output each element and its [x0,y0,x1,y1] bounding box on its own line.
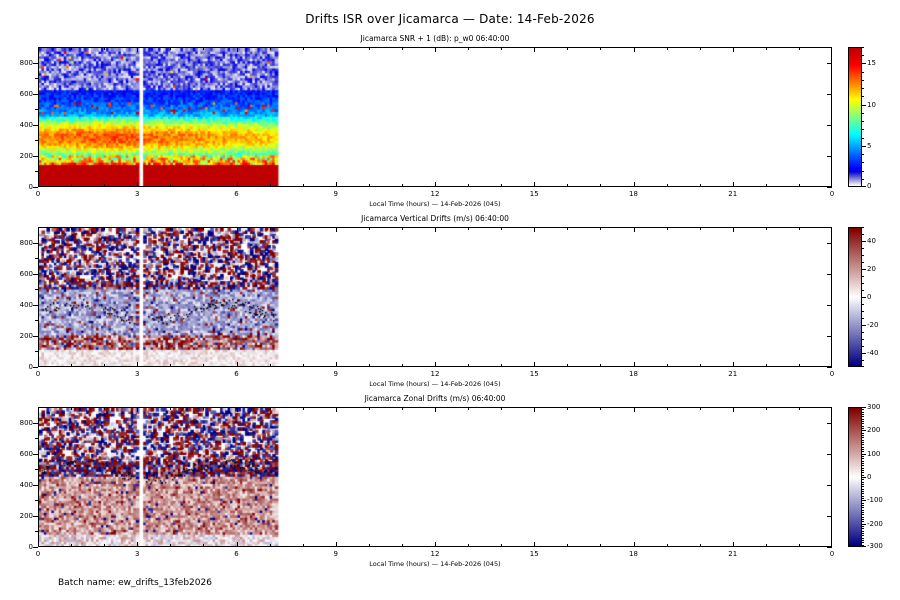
y-tick [33,274,38,275]
colorbar-tick-minor [862,255,864,256]
colorbar-tick-minor [862,154,864,155]
x-tick-minor [402,364,403,367]
x-tick-label: 3 [124,550,150,558]
x-tick-top [336,407,337,412]
x-tick-minor [501,544,502,547]
x-tick-top [137,47,138,52]
colorbar-tick-label: 0 [867,473,871,481]
colorbar-tick-minor [862,440,864,441]
plot-area-snr [38,47,832,187]
x-tick-minor-top [170,407,171,410]
colorbar-tick-minor [862,437,864,438]
x-tick-minor [600,364,601,367]
colorbar-tick-label: -300 [867,542,883,550]
x-tick-label: 9 [323,550,349,558]
x-tick-minor-top [600,227,601,230]
x-tick-label: 0 [819,190,845,198]
colorbar-tick-minor [862,55,864,56]
x-tick-minor-top [270,227,271,230]
x-tick-minor [170,364,171,367]
colorbar-tick-minor [862,113,864,114]
colorbar-tick-minor [862,72,864,73]
y-tick-right [827,187,832,188]
y-tick-right [827,367,832,368]
y-tick-right [827,454,832,455]
colorbar-tick [862,353,866,354]
x-tick [336,362,337,367]
y-tick-right [827,243,832,244]
colorbar-tick [862,325,866,326]
colorbar-tick-minor [862,472,864,473]
colorbar-tick-minor [862,444,864,445]
x-tick-minor [799,544,800,547]
x-tick-minor [567,544,568,547]
y-tick [33,547,38,548]
colorbar-tick-minor [862,498,864,499]
colorbar-tick-minor [862,409,864,410]
x-tick-label: 6 [224,190,250,198]
x-tick-label: 6 [224,550,250,558]
x-tick-minor [766,184,767,187]
x-tick-minor-top [667,407,668,410]
y-tick-label: 400 [3,481,33,489]
colorbar-tick-minor [862,426,864,427]
colorbar-tick-minor [862,262,864,263]
x-tick-minor-top [270,407,271,410]
colorbar-tick-minor [862,542,864,543]
y-tick-right [827,485,832,486]
x-tick-minor [468,544,469,547]
x-tick-minor [468,364,469,367]
y-tick-label: 800 [3,419,33,427]
y-tick-label: 800 [3,239,33,247]
y-tick-right [827,94,832,95]
x-tick-top [38,227,39,232]
colorbar-tick-minor [862,227,864,228]
x-tick-minor [203,364,204,367]
x-tick-minor-top [667,227,668,230]
colorbar-tick-minor [862,526,864,527]
y-tick [33,243,38,244]
x-tick [534,182,535,187]
y-tick-minor [35,469,38,470]
y-tick [33,187,38,188]
colorbar-tick-minor [862,311,864,312]
y-tick [33,125,38,126]
colorbar-tick-minor [862,461,864,462]
x-tick [534,542,535,547]
x-tick-minor-top [71,407,72,410]
colorbar-tick-minor [862,463,864,464]
panel-zonal-drifts: Jicamarca Zonal Drifts (m/s) 06:40:00020… [38,407,832,547]
heatmap-vertical-drifts [39,228,832,367]
y-tick [33,485,38,486]
x-tick-minor [170,544,171,547]
colorbar-tick-minor [862,421,864,422]
colorbar-tick-minor [862,482,864,483]
x-tick-minor-top [766,227,767,230]
colorbar-tick-minor [862,435,864,436]
y-tick [33,454,38,455]
x-tick [831,542,832,547]
x-tick-label: 15 [521,550,547,558]
colorbar-tick-minor [862,468,864,469]
y-tick-minor [35,258,38,259]
x-tick-minor-top [203,47,204,50]
x-tick-minor-top [766,47,767,50]
colorbar-tick-minor [862,171,864,172]
x-tick-minor [700,184,701,187]
x-tick-label: 3 [124,190,150,198]
x-tick-minor [501,364,502,367]
x-tick-label: 21 [720,370,746,378]
colorbar-tick [862,454,866,455]
x-tick-minor [104,364,105,367]
colorbar-tick-minor [862,531,864,532]
colorbar-tick-minor [862,456,864,457]
x-tick-minor [104,184,105,187]
x-tick-minor [203,184,204,187]
x-tick-top [237,407,238,412]
colorbar-tick-label: 200 [867,426,880,434]
y-tick-label: 600 [3,90,33,98]
x-tick-label: 9 [323,190,349,198]
y-tick [33,516,38,517]
colorbar-tick-minor [862,475,864,476]
x-tick [237,542,238,547]
x-tick-minor-top [468,407,469,410]
x-tick-minor [303,364,304,367]
colorbar-tick [862,546,866,547]
x-axis-title: Local Time (hours) — 14-Feb-2026 (045) [38,560,832,568]
colorbar-tick-label: 300 [867,403,880,411]
x-tick-label: 6 [224,370,250,378]
x-tick [38,362,39,367]
x-tick-top [38,47,39,52]
x-tick-label: 9 [323,370,349,378]
x-tick-minor [303,544,304,547]
y-tick-right [827,156,832,157]
x-tick-top [435,407,436,412]
x-tick-minor-top [104,407,105,410]
colorbar-snr [848,47,862,187]
y-tick-minor [35,531,38,532]
x-tick-minor-top [468,227,469,230]
colorbar-tick-minor [862,491,864,492]
colorbar-tick-minor [862,447,864,448]
x-tick-minor [766,544,767,547]
colorbar-tick-minor [862,514,864,515]
colorbar-tick-minor [862,433,864,434]
y-tick [33,423,38,424]
x-tick-label: 21 [720,550,746,558]
x-tick-top [237,227,238,232]
x-tick-minor [667,184,668,187]
colorbar-tick-label: 0 [867,293,871,301]
x-tick-minor-top [766,407,767,410]
x-tick-top [336,227,337,232]
colorbar-tick-minor [862,505,864,506]
colorbar-tick-minor [862,517,864,518]
y-tick-minor [35,351,38,352]
x-tick-minor [369,544,370,547]
colorbar-tick-label: -20 [867,321,878,329]
x-tick-label: 12 [422,190,448,198]
panel-vertical-drifts: Jicamarca Vertical Drifts (m/s) 06:40:00… [38,227,832,367]
x-tick-minor-top [799,407,800,410]
y-tick-label: 800 [3,59,33,67]
y-tick-right [827,516,832,517]
colorbar-tick-minor [862,540,864,541]
panel-title-zonal-drifts: Jicamarca Zonal Drifts (m/s) 06:40:00 [38,394,832,403]
colorbar-tick-minor [862,493,864,494]
x-tick-minor [799,364,800,367]
x-tick-minor [667,364,668,367]
colorbar-tick-minor [862,533,864,534]
x-tick-minor-top [104,47,105,50]
colorbar-tick-minor [862,519,864,520]
x-tick-minor-top [567,407,568,410]
colorbar-tick-minor [862,503,864,504]
y-tick [33,305,38,306]
x-tick-minor-top [799,227,800,230]
x-tick-minor [567,184,568,187]
x-tick [336,542,337,547]
x-tick-minor [71,544,72,547]
x-tick-minor [600,184,601,187]
y-tick-minor [35,78,38,79]
x-tick-minor [402,184,403,187]
x-tick-top [137,227,138,232]
y-tick-label: 200 [3,152,33,160]
x-tick-top [733,47,734,52]
colorbar-tick-minor [862,412,864,413]
colorbar-tick-minor [862,88,864,89]
colorbar-tick-minor [862,545,864,546]
x-tick-label: 18 [621,370,647,378]
colorbar-tick-label: 20 [867,265,876,273]
y-tick-label: 600 [3,450,33,458]
x-tick [435,182,436,187]
y-tick-minor [35,140,38,141]
x-tick-minor [799,184,800,187]
x-tick [237,362,238,367]
colorbar-tick [862,430,866,431]
x-tick-minor [600,544,601,547]
colorbar-tick [862,477,866,478]
x-tick-minor-top [303,227,304,230]
colorbar-tick-minor [862,47,864,48]
x-tick-top [435,227,436,232]
x-tick-minor-top [402,407,403,410]
colorbar-tick-minor [862,80,864,81]
heatmap-zonal-drifts [39,408,832,547]
x-tick-minor-top [369,407,370,410]
y-tick [33,367,38,368]
x-tick-top [237,47,238,52]
colorbar-tick-minor [862,507,864,508]
x-tick-label: 0 [25,550,51,558]
x-tick-top [634,47,635,52]
colorbar-tick-minor [862,535,864,536]
colorbar-tick-minor [862,423,864,424]
x-tick-label: 15 [521,190,547,198]
x-tick-label: 0 [819,370,845,378]
x-tick-label: 15 [521,370,547,378]
colorbar-tick-minor [862,121,864,122]
x-tick-minor-top [71,47,72,50]
colorbar-tick [862,63,866,64]
x-tick-minor-top [170,227,171,230]
x-tick [634,182,635,187]
colorbar-tick-label: 0 [867,182,871,190]
colorbar-tick-minor [862,366,864,367]
colorbar-tick-label: 15 [867,59,876,67]
x-tick-minor [501,184,502,187]
y-tick-minor [35,320,38,321]
colorbar-tick-minor [862,442,864,443]
x-tick-minor [71,364,72,367]
x-tick-minor [700,364,701,367]
x-tick-minor-top [203,227,204,230]
colorbar-tick-minor [862,96,864,97]
x-tick-minor-top [203,407,204,410]
x-tick-label: 21 [720,190,746,198]
y-tick [33,63,38,64]
page-title: Drifts ISR over Jicamarca — Date: 14-Feb… [0,12,900,26]
colorbar-tick-label: 100 [867,450,880,458]
x-tick-label: 3 [124,370,150,378]
y-tick-right [827,63,832,64]
x-tick-label: 18 [621,190,647,198]
x-tick [831,182,832,187]
colorbar-tick-minor [862,538,864,539]
x-tick-minor-top [468,47,469,50]
colorbar-tick-minor [862,528,864,529]
x-tick-label: 12 [422,550,448,558]
colorbar-tick-minor [862,465,864,466]
colorbar-vertical-drifts [848,227,862,367]
x-tick-top [534,227,535,232]
x-tick-minor-top [700,47,701,50]
colorbar-tick [862,105,866,106]
colorbar-tick-minor [862,470,864,471]
x-tick-top [336,47,337,52]
x-tick-minor [567,364,568,367]
x-tick-top [733,227,734,232]
y-tick-right [827,305,832,306]
x-tick-minor-top [700,407,701,410]
colorbar-tick-label: -100 [867,496,883,504]
x-tick [435,362,436,367]
colorbar-tick-label: -40 [867,349,878,357]
colorbar-tick-label: 40 [867,237,876,245]
x-tick-minor-top [501,227,502,230]
colorbar-tick-minor [862,234,864,235]
colorbar-tick-minor [862,179,864,180]
x-tick-top [435,47,436,52]
colorbar-tick [862,524,866,525]
x-tick [137,362,138,367]
y-tick-label: 200 [3,332,33,340]
x-tick-top [733,407,734,412]
x-tick-minor-top [667,47,668,50]
x-tick-minor [71,184,72,187]
x-tick [137,182,138,187]
colorbar-tick-minor [862,248,864,249]
y-tick [33,156,38,157]
batch-name-label: Batch name: ew_drifts_13feb2026 [58,578,212,588]
x-tick [38,542,39,547]
x-tick-top [634,227,635,232]
colorbar-tick-minor [862,510,864,511]
colorbar-tick-minor [862,339,864,340]
x-tick-minor [766,364,767,367]
colorbar-tick-minor [862,162,864,163]
colorbar-tick-minor [862,521,864,522]
x-tick-minor-top [799,47,800,50]
x-tick [534,362,535,367]
y-tick-right [827,336,832,337]
x-tick-minor [369,364,370,367]
colorbar-tick-minor [862,129,864,130]
x-tick-minor-top [501,407,502,410]
x-tick-label: 0 [25,190,51,198]
plot-area-vertical-drifts [38,227,832,367]
colorbar-tick-minor [862,489,864,490]
x-tick-minor [468,184,469,187]
colorbar-tick-minor [862,419,864,420]
colorbar-tick-minor [862,451,864,452]
y-tick-right [827,274,832,275]
x-tick-minor [700,544,701,547]
x-tick-minor-top [270,47,271,50]
x-tick [831,362,832,367]
x-tick [237,182,238,187]
x-tick [137,542,138,547]
x-tick-minor [104,544,105,547]
colorbar-tick-minor [862,512,864,513]
colorbar-tick-minor [862,458,864,459]
x-tick-label: 0 [819,550,845,558]
panel-snr: Jicamarca SNR + 1 (dB): p_w0 06:40:00020… [38,47,832,187]
colorbar-tick [862,297,866,298]
y-tick-label: 200 [3,512,33,520]
colorbar-tick-minor [862,332,864,333]
panel-title-snr: Jicamarca SNR + 1 (dB): p_w0 06:40:00 [38,34,832,43]
x-tick-minor-top [501,47,502,50]
y-tick-minor [35,171,38,172]
x-tick-minor-top [369,47,370,50]
colorbar-tick-minor [862,290,864,291]
x-tick-minor-top [402,47,403,50]
colorbar-tick-minor [862,283,864,284]
x-tick-minor [270,544,271,547]
colorbar-tick-minor [862,414,864,415]
y-tick-right [827,547,832,548]
y-tick-minor [35,500,38,501]
colorbar-tick [862,186,866,187]
y-tick-minor [35,109,38,110]
x-tick-minor [270,184,271,187]
x-axis-title: Local Time (hours) — 14-Feb-2026 (045) [38,200,832,208]
x-tick-minor-top [170,47,171,50]
x-tick-label: 0 [25,370,51,378]
y-tick [33,94,38,95]
x-tick-minor [667,544,668,547]
x-tick [38,182,39,187]
colorbar-tick-minor [862,486,864,487]
